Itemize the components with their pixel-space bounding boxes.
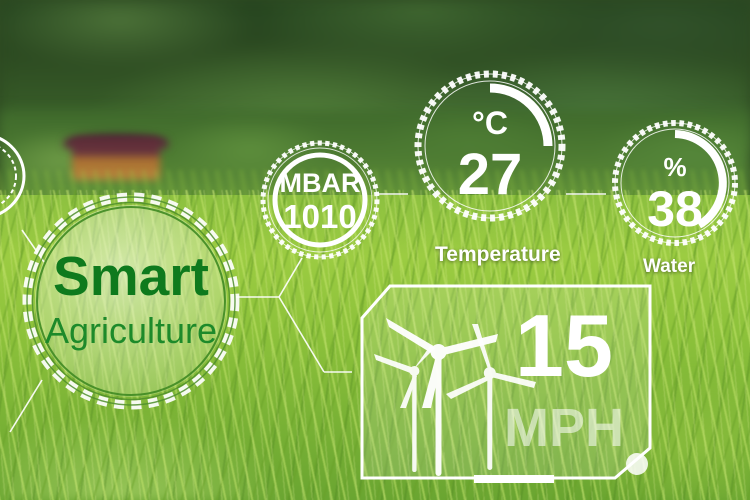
gauge-pressure[interactable]: MBAR 1010 (258, 138, 382, 262)
wind-unit: MPH (504, 398, 624, 458)
gauge-temperature[interactable]: °C 27 (412, 68, 568, 224)
water-unit: % (663, 152, 686, 182)
water-caption: Water (643, 256, 695, 278)
pressure-value: 1010 (283, 198, 356, 235)
link-junction-wind (279, 297, 324, 372)
pressure-unit: MBAR (280, 168, 361, 198)
temperature-caption: Temperature (435, 243, 561, 267)
screenshot-canvas: MBAR 1010 °C 27 Temperature % 38 Water (0, 0, 750, 500)
brand-subtitle: Agriculture (45, 310, 217, 351)
water-value: 38 (647, 181, 703, 237)
wind-bottom-bar (474, 475, 554, 483)
wind-panel[interactable]: 15 MPH (352, 276, 662, 494)
temperature-value: 27 (458, 142, 523, 207)
temperature-unit: °C (472, 105, 508, 141)
wind-corner-dot (626, 453, 648, 475)
wind-value: 15 (515, 296, 613, 395)
gauge-water[interactable]: % 38 (610, 118, 740, 248)
link-junction-mbar (279, 258, 302, 297)
smart-agriculture-badge[interactable]: Smart Agriculture (20, 190, 242, 412)
brand-title: Smart (53, 245, 209, 307)
